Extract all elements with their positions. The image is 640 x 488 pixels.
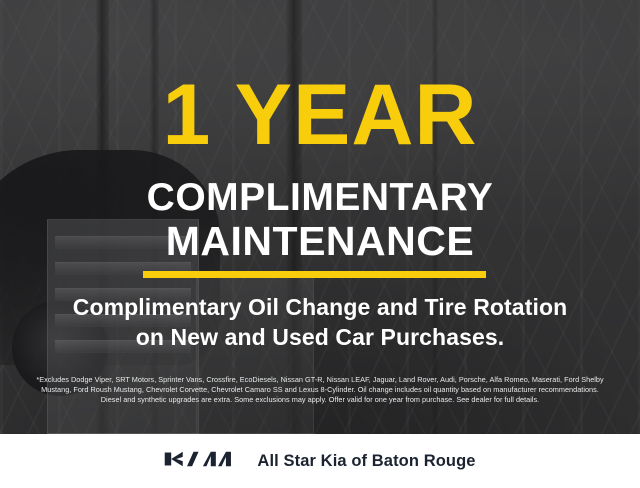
hero-section: 1 YEAR COMPLIMENTARY MAINTENANCE Complim… [0,0,640,434]
disclaimer-line-1: *Excludes Dodge Viper, SRT Motors, Sprin… [14,375,626,385]
hero-copy: 1 YEAR COMPLIMENTARY MAINTENANCE Complim… [0,0,640,434]
offer-tagline: Complimentary Oil Change and Tire Rotati… [0,292,640,352]
yellow-divider-rule [143,271,486,278]
headline-maintenance: MAINTENANCE [0,220,640,262]
kia-logo-icon [164,448,236,475]
dealer-footer: All Star Kia of Baton Rouge [0,434,640,488]
disclaimer-line-2: Mustang, Ford Roush Mustang, Chevrolet C… [14,385,626,395]
headline-year: 1 YEAR [0,72,640,158]
offer-tagline-line2: on New and Used Car Purchases. [0,322,640,352]
disclaimer-line-3: Diesel and synthetic upgrades are extra.… [14,395,626,405]
dealer-name: All Star Kia of Baton Rouge [257,452,475,471]
offer-tagline-line1: Complimentary Oil Change and Tire Rotati… [0,292,640,322]
headline-complimentary: COMPLIMENTARY [0,178,640,218]
promo-banner: 1 YEAR COMPLIMENTARY MAINTENANCE Complim… [0,0,640,488]
disclaimer-text: *Excludes Dodge Viper, SRT Motors, Sprin… [14,375,626,405]
